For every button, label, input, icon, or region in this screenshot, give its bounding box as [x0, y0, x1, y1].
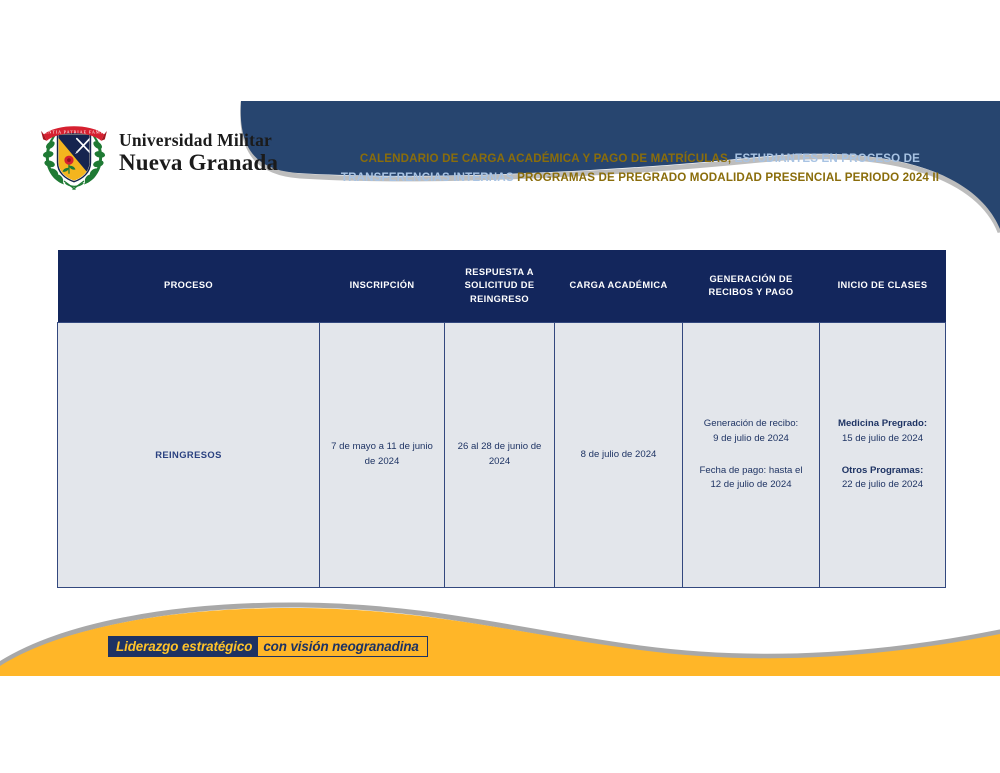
- cell-inscripcion: 7 de mayo a 11 de junio de 2024: [320, 323, 445, 588]
- column-header-recibos: GENERACIÓN DE RECIBOS Y PAGO: [683, 250, 820, 323]
- recibo-generacion: Generación de recibo: 9 de julio de 2024: [690, 417, 812, 447]
- brand-line-2: Nueva Granada: [119, 151, 278, 174]
- inicio-otros-label: Otros Programas:: [827, 464, 938, 479]
- svg-text:SCIENTIA PATRIAE FAMILIA: SCIENTIA PATRIAE FAMILIA: [38, 130, 110, 135]
- cell-inicio: Medicina Pregrado: 15 de julio de 2024 O…: [820, 323, 946, 588]
- column-header-inicio: INICIO DE CLASES: [820, 250, 946, 323]
- column-header-respuesta: RESPUESTA A SOLICITUD DE REINGRESO: [445, 250, 555, 323]
- column-header-inscripcion: INSCRIPCIÓN: [320, 250, 445, 323]
- title-segment-4: MODALIDAD PRESENCIAL PERIODO 2024 II: [690, 171, 939, 184]
- cell-carga: 8 de julio de 2024: [555, 323, 683, 588]
- cell-proceso: REINGRESOS: [58, 323, 320, 588]
- brand-logo: SCIENTIA PATRIAE FAMILIA Universidad Mil…: [38, 115, 278, 191]
- table-header-row: PROCESO INSCRIPCIÓN RESPUESTA A SOLICITU…: [58, 250, 946, 323]
- cell-recibos: Generación de recibo: 9 de julio de 2024…: [683, 323, 820, 588]
- calendar-table: PROCESO INSCRIPCIÓN RESPUESTA A SOLICITU…: [57, 250, 946, 588]
- footer-decoration: [0, 586, 1000, 676]
- table-row: REINGRESOS 7 de mayo a 11 de junio de 20…: [58, 323, 946, 588]
- cell-respuesta: 26 al 28 de junio de 2024: [445, 323, 555, 588]
- inicio-medicina-value: 15 de julio de 2024: [842, 433, 923, 444]
- slogan-part-2: con visión neogranadina: [258, 636, 427, 657]
- umng-crest-icon: SCIENTIA PATRIAE FAMILIA: [38, 115, 110, 191]
- recibo-generacion-value: 9 de julio de 2024: [713, 433, 789, 444]
- inicio-medicina-label: Medicina Pregrado:: [827, 417, 938, 432]
- title-segment-1: CALENDARIO DE CARGA ACADÉMICA Y PAGO DE …: [360, 152, 731, 165]
- page-title: CALENDARIO DE CARGA ACADÉMICA Y PAGO DE …: [330, 150, 950, 188]
- column-header-proceso: PROCESO: [58, 250, 320, 323]
- column-header-carga: CARGA ACADÉMICA: [555, 250, 683, 323]
- recibo-pago: Fecha de pago: hasta el 12 de julio de 2…: [690, 464, 812, 494]
- title-segment-3: PROGRAMAS DE PREGRADO: [517, 171, 686, 184]
- recibo-generacion-label: Generación de recibo:: [704, 418, 798, 429]
- brand-line-1: Universidad Militar: [119, 132, 278, 150]
- inicio-otros: Otros Programas: 22 de julio de 2024: [827, 464, 938, 494]
- slogan-part-1: Liderazgo estratégico: [108, 636, 258, 657]
- slogan: Liderazgo estratégico con visión neogran…: [108, 636, 428, 657]
- recibo-pago-label: Fecha de pago: hasta el: [700, 465, 803, 476]
- inicio-medicina: Medicina Pregrado: 15 de julio de 2024: [827, 417, 938, 447]
- recibo-pago-value: 12 de julio de 2024: [710, 479, 791, 490]
- inicio-otros-value: 22 de julio de 2024: [842, 479, 923, 490]
